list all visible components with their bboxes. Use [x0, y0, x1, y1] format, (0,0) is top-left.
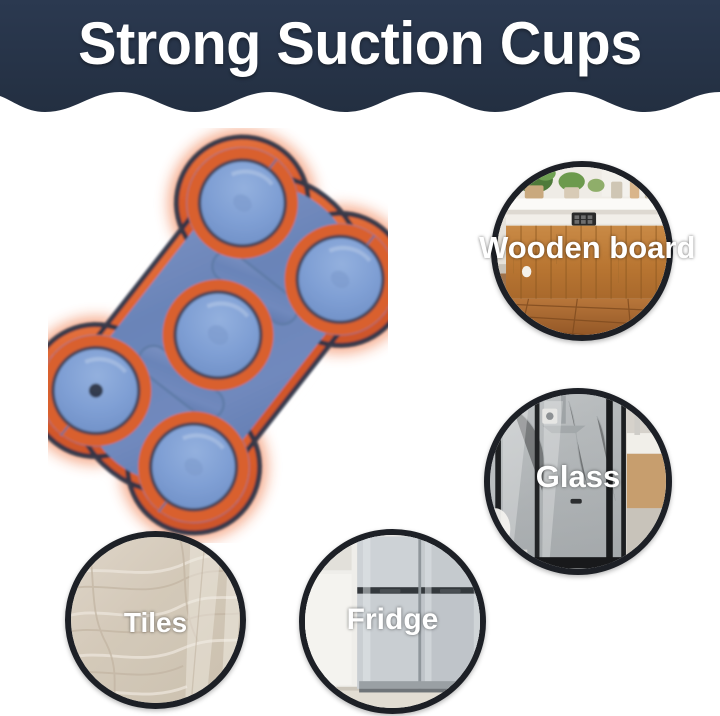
wood-cabinet: [627, 454, 670, 509]
header-banner: Strong Suction Cups: [0, 0, 720, 132]
wall-dispenser: [542, 409, 557, 424]
sink-counter: [627, 433, 670, 454]
product-marketing-image: Strong Suction Cups: [0, 0, 720, 716]
product-body: [48, 128, 388, 543]
wooden-board-illustration: [491, 161, 673, 341]
product-image: [48, 128, 388, 543]
suction-cup-mount-illustration: [48, 128, 388, 543]
surface-circle-fridge[interactable]: [299, 529, 486, 714]
tiles-scene: [65, 531, 246, 709]
tiles-illustration: [65, 531, 246, 709]
surface-circle-wooden-board[interactable]: [491, 161, 673, 341]
glass-shower-illustration: [484, 388, 672, 575]
fridge-scene: [299, 529, 486, 714]
page-title: Strong Suction Cups: [14, 9, 705, 79]
door-handle: [570, 499, 581, 504]
fridge-illustration: [299, 529, 486, 714]
switch-panel: [572, 213, 596, 226]
wooden-board-scene: [491, 161, 673, 341]
surface-circle-glass[interactable]: [484, 388, 672, 575]
surface-circle-tiles[interactable]: [65, 531, 246, 709]
glass-frame-mid-left: [535, 394, 540, 563]
glass-frame-right: [621, 388, 626, 575]
glass-scene: [484, 388, 672, 575]
glass-frame-mid-right: [606, 390, 613, 565]
door-seam: [418, 536, 421, 688]
